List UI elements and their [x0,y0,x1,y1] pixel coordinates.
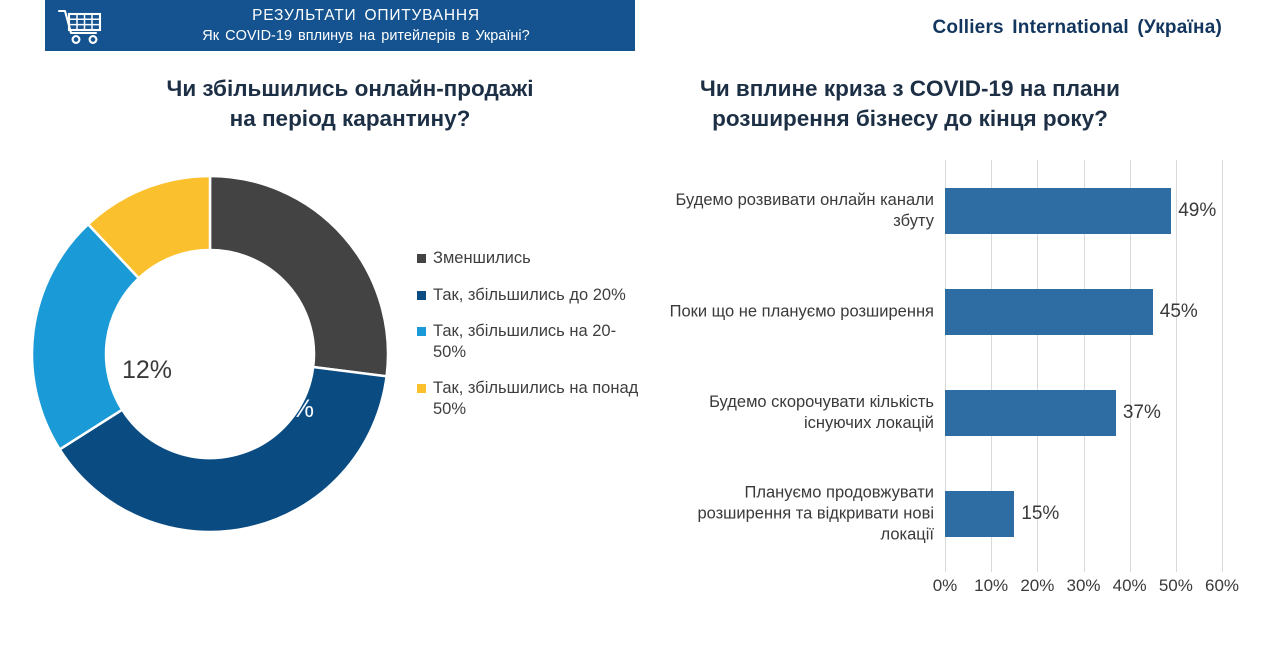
shopping-cart-icon [55,6,107,46]
donut-slice-label-1: 39% [203,628,253,657]
axis-tick-label-4: 40% [1113,576,1147,596]
gridline-6 [1222,160,1223,565]
bar-chart: Будемо розвивати онлайн канали збуту49%П… [655,155,1255,595]
donut-chart-title-line2: на період карантину? [45,104,655,134]
bar-row-1: Поки що не плануємо розширення45% [945,261,1222,362]
axis-tick-label-6: 60% [1205,576,1239,596]
donut-chart-title: Чи збільшились онлайн-продажі на період … [45,74,655,134]
legend-swatch-icon-3 [417,384,426,393]
axis-tick-label-1: 10% [974,576,1008,596]
header-text-block: РЕЗУЛЬТАТИ ОПИТУВАННЯ Як COVID-19 вплину… [111,6,635,46]
axis-tick-label-5: 50% [1159,576,1193,596]
axis-tick-4 [1130,565,1131,572]
axis-tick-label-3: 30% [1066,576,1100,596]
axis-tick-label-0: 0% [933,576,958,596]
axis-tick-6 [1222,565,1223,572]
survey-header-banner: РЕЗУЛЬТАТИ ОПИТУВАННЯ Як COVID-19 вплину… [45,0,635,51]
legend-item-0[interactable]: Зменшились [417,248,647,269]
donut-chart: 27% 39% 22% 12% [18,160,410,550]
bar-value-label-3: 15% [1021,503,1059,525]
bar-row-2: Будемо скорочувати кількість існуючих ло… [945,363,1222,464]
bar-row-3: Плануємо продовжувати розширення та відк… [945,464,1222,565]
legend-item-label-3: Так, збільшились на понад 50% [433,378,647,419]
bar-category-label-0: Будемо розвивати онлайн канали збуту [654,190,934,232]
bar-chart-x-axis: 0%10%20%30%40%50%60% [945,565,1222,595]
header-title-primary: РЕЗУЛЬТАТИ ОПИТУВАННЯ [111,6,621,26]
donut-slice-0 [210,176,388,376]
bar-value-label-1: 45% [1160,301,1198,323]
legend-item-2[interactable]: Так, збільшились на 20-50% [417,321,647,362]
bar-category-label-1: Поки що не плануємо розширення [654,301,934,322]
legend-item-label-2: Так, збільшились на 20-50% [433,321,647,362]
header-title-secondary: Як COVID-19 вплинув на ритейлерів в Укра… [111,26,621,46]
bar-row-0: Будемо розвивати онлайн канали збуту49% [945,160,1222,261]
axis-tick-3 [1084,565,1085,572]
donut-chart-legend: ЗменшилисьТак, збільшились до 20%Так, зб… [417,248,647,435]
bar-chart-title: Чи вплине криза з COVID-19 на плани розш… [655,74,1165,134]
legend-item-label-0: Зменшились [433,248,531,269]
legend-item-1[interactable]: Так, збільшились до 20% [417,285,647,306]
axis-tick-2 [1037,565,1038,572]
donut-chart-title-line1: Чи збільшились онлайн-продажі [45,74,655,104]
bar-category-label-3: Плануємо продовжувати розширення та відк… [654,483,934,546]
donut-chart-svg [18,160,410,550]
bar-rect-0[interactable] [945,188,1171,234]
axis-tick-5 [1176,565,1177,572]
bar-chart-plot-area: Будемо розвивати онлайн канали збуту49%П… [945,160,1222,565]
bar-category-label-2: Будемо скорочувати кількість існуючих ло… [654,392,934,434]
legend-swatch-icon-2 [417,327,426,336]
bar-value-label-2: 37% [1123,402,1161,424]
bar-rect-1[interactable] [945,289,1153,335]
bar-chart-title-line2: розширення бізнесу до кінця року? [655,104,1165,134]
legend-item-label-1: Так, збільшились до 20% [433,285,626,306]
axis-tick-0 [945,565,946,572]
legend-item-3[interactable]: Так, збільшились на понад 50% [417,378,647,419]
axis-tick-1 [991,565,992,572]
legend-swatch-icon-1 [417,291,426,300]
bar-rect-2[interactable] [945,390,1116,436]
colliers-brand-label: Colliers International (Україна) [933,17,1222,39]
bar-value-label-0: 49% [1178,200,1216,222]
legend-swatch-icon-0 [417,254,426,263]
bar-chart-title-line1: Чи вплине криза з COVID-19 на плани [655,74,1165,104]
axis-tick-label-2: 20% [1020,576,1054,596]
bar-rect-3[interactable] [945,491,1014,537]
